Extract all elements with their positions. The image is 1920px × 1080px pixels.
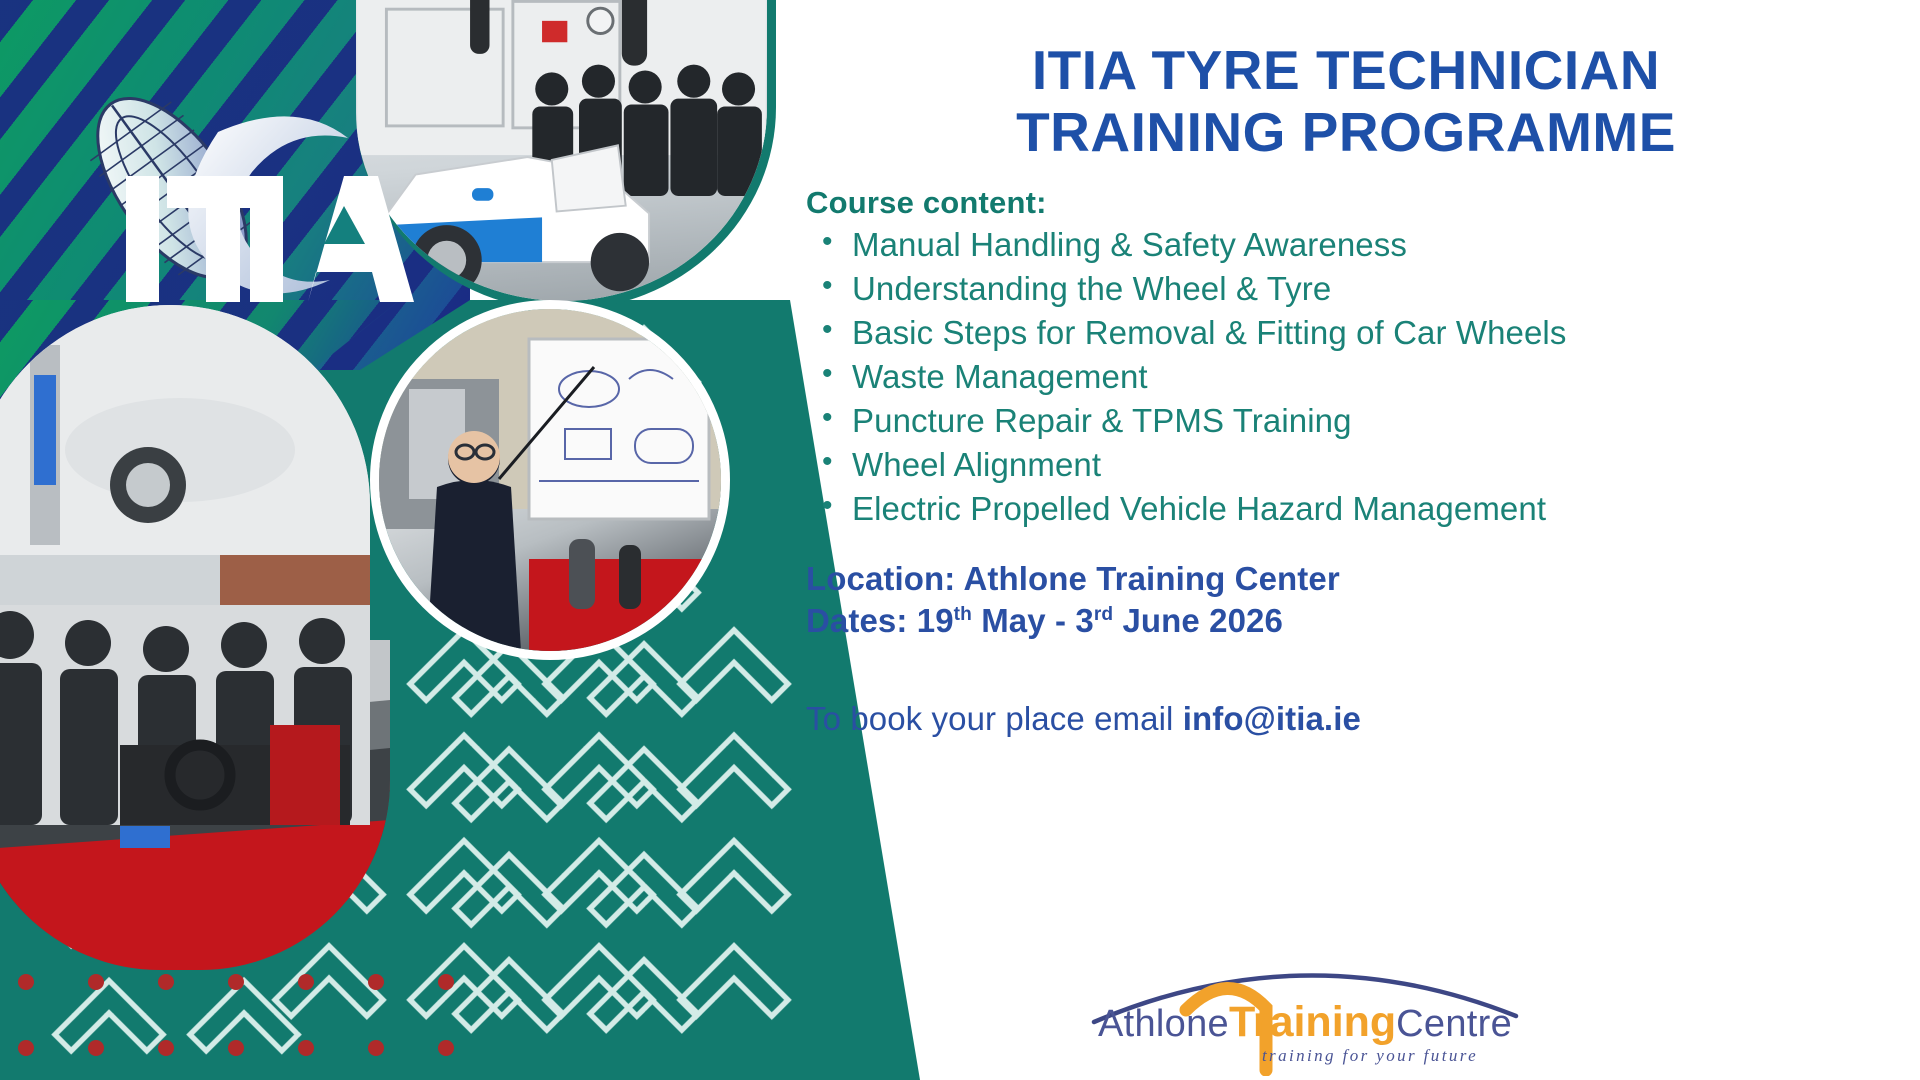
dates-start-day: 19 [917, 602, 954, 639]
dates-end-suffix: rd [1094, 604, 1113, 625]
athlone-logo-wordmark: AthloneTrainingCentre [1090, 998, 1520, 1047]
poster-content: ITIA TYRE TECHNICIAN TRAINING PROGRAMME … [780, 0, 1920, 1080]
title-line-1: ITIA TYRE TECHNICIAN [1032, 39, 1660, 101]
location-line: Location: Athlone Training Center [806, 558, 1900, 600]
red-dot-pattern [0, 960, 520, 1080]
photo-workshop-students-group [0, 305, 370, 825]
itia-logo-mark [22, 78, 442, 318]
dates-label: Dates: [806, 602, 907, 639]
list-item: Puncture Repair & TPMS Training [818, 399, 1900, 443]
list-item: Waste Management [818, 355, 1900, 399]
dates-start-suffix: th [954, 604, 972, 625]
dates-separator: - [1055, 602, 1066, 639]
booking-prefix: To book your place email [806, 700, 1183, 737]
centre-word: Centre [1396, 1003, 1512, 1045]
photo-instructor-at-whiteboard [370, 300, 730, 660]
booking-email[interactable]: info@itia.ie [1183, 700, 1361, 737]
title-line-2: TRAINING PROGRAMME [792, 102, 1900, 164]
training-word: Training [1229, 998, 1396, 1046]
athlone-logo-tagline: training for your future [1210, 1046, 1530, 1066]
poster-canvas: Irish Tyre Industry Association [0, 0, 1920, 1080]
dates-end-month: June [1122, 602, 1199, 639]
dates-end-day: 3 [1075, 602, 1093, 639]
location-label: Location: [806, 560, 955, 597]
list-item: Wheel Alignment [818, 443, 1900, 487]
booking-line: To book your place email info@itia.ie [806, 700, 1900, 738]
list-item: Understanding the Wheel & Tyre [818, 267, 1900, 311]
course-content-heading: Course content: [806, 185, 1900, 221]
athlone-training-centre-logo: AthloneTrainingCentre training for your … [1090, 946, 1520, 1076]
location-value: Athlone Training Center [963, 560, 1339, 597]
list-item: Basic Steps for Removal & Fitting of Car… [818, 311, 1900, 355]
list-item: Electric Propelled Vehicle Hazard Manage… [818, 487, 1900, 531]
course-content-list: Manual Handling & Safety Awareness Under… [818, 223, 1900, 531]
page-title: ITIA TYRE TECHNICIAN TRAINING PROGRAMME [792, 40, 1900, 163]
course-details: Location: Athlone Training Center Dates:… [806, 558, 1900, 642]
dates-year: 2026 [1209, 602, 1283, 639]
list-item: Manual Handling & Safety Awareness [818, 223, 1900, 267]
dates-line: Dates: 19th May - 3rd June 2026 [806, 600, 1900, 642]
dates-start-month: May [981, 602, 1046, 639]
athlone-word: Athlone [1098, 1003, 1229, 1045]
